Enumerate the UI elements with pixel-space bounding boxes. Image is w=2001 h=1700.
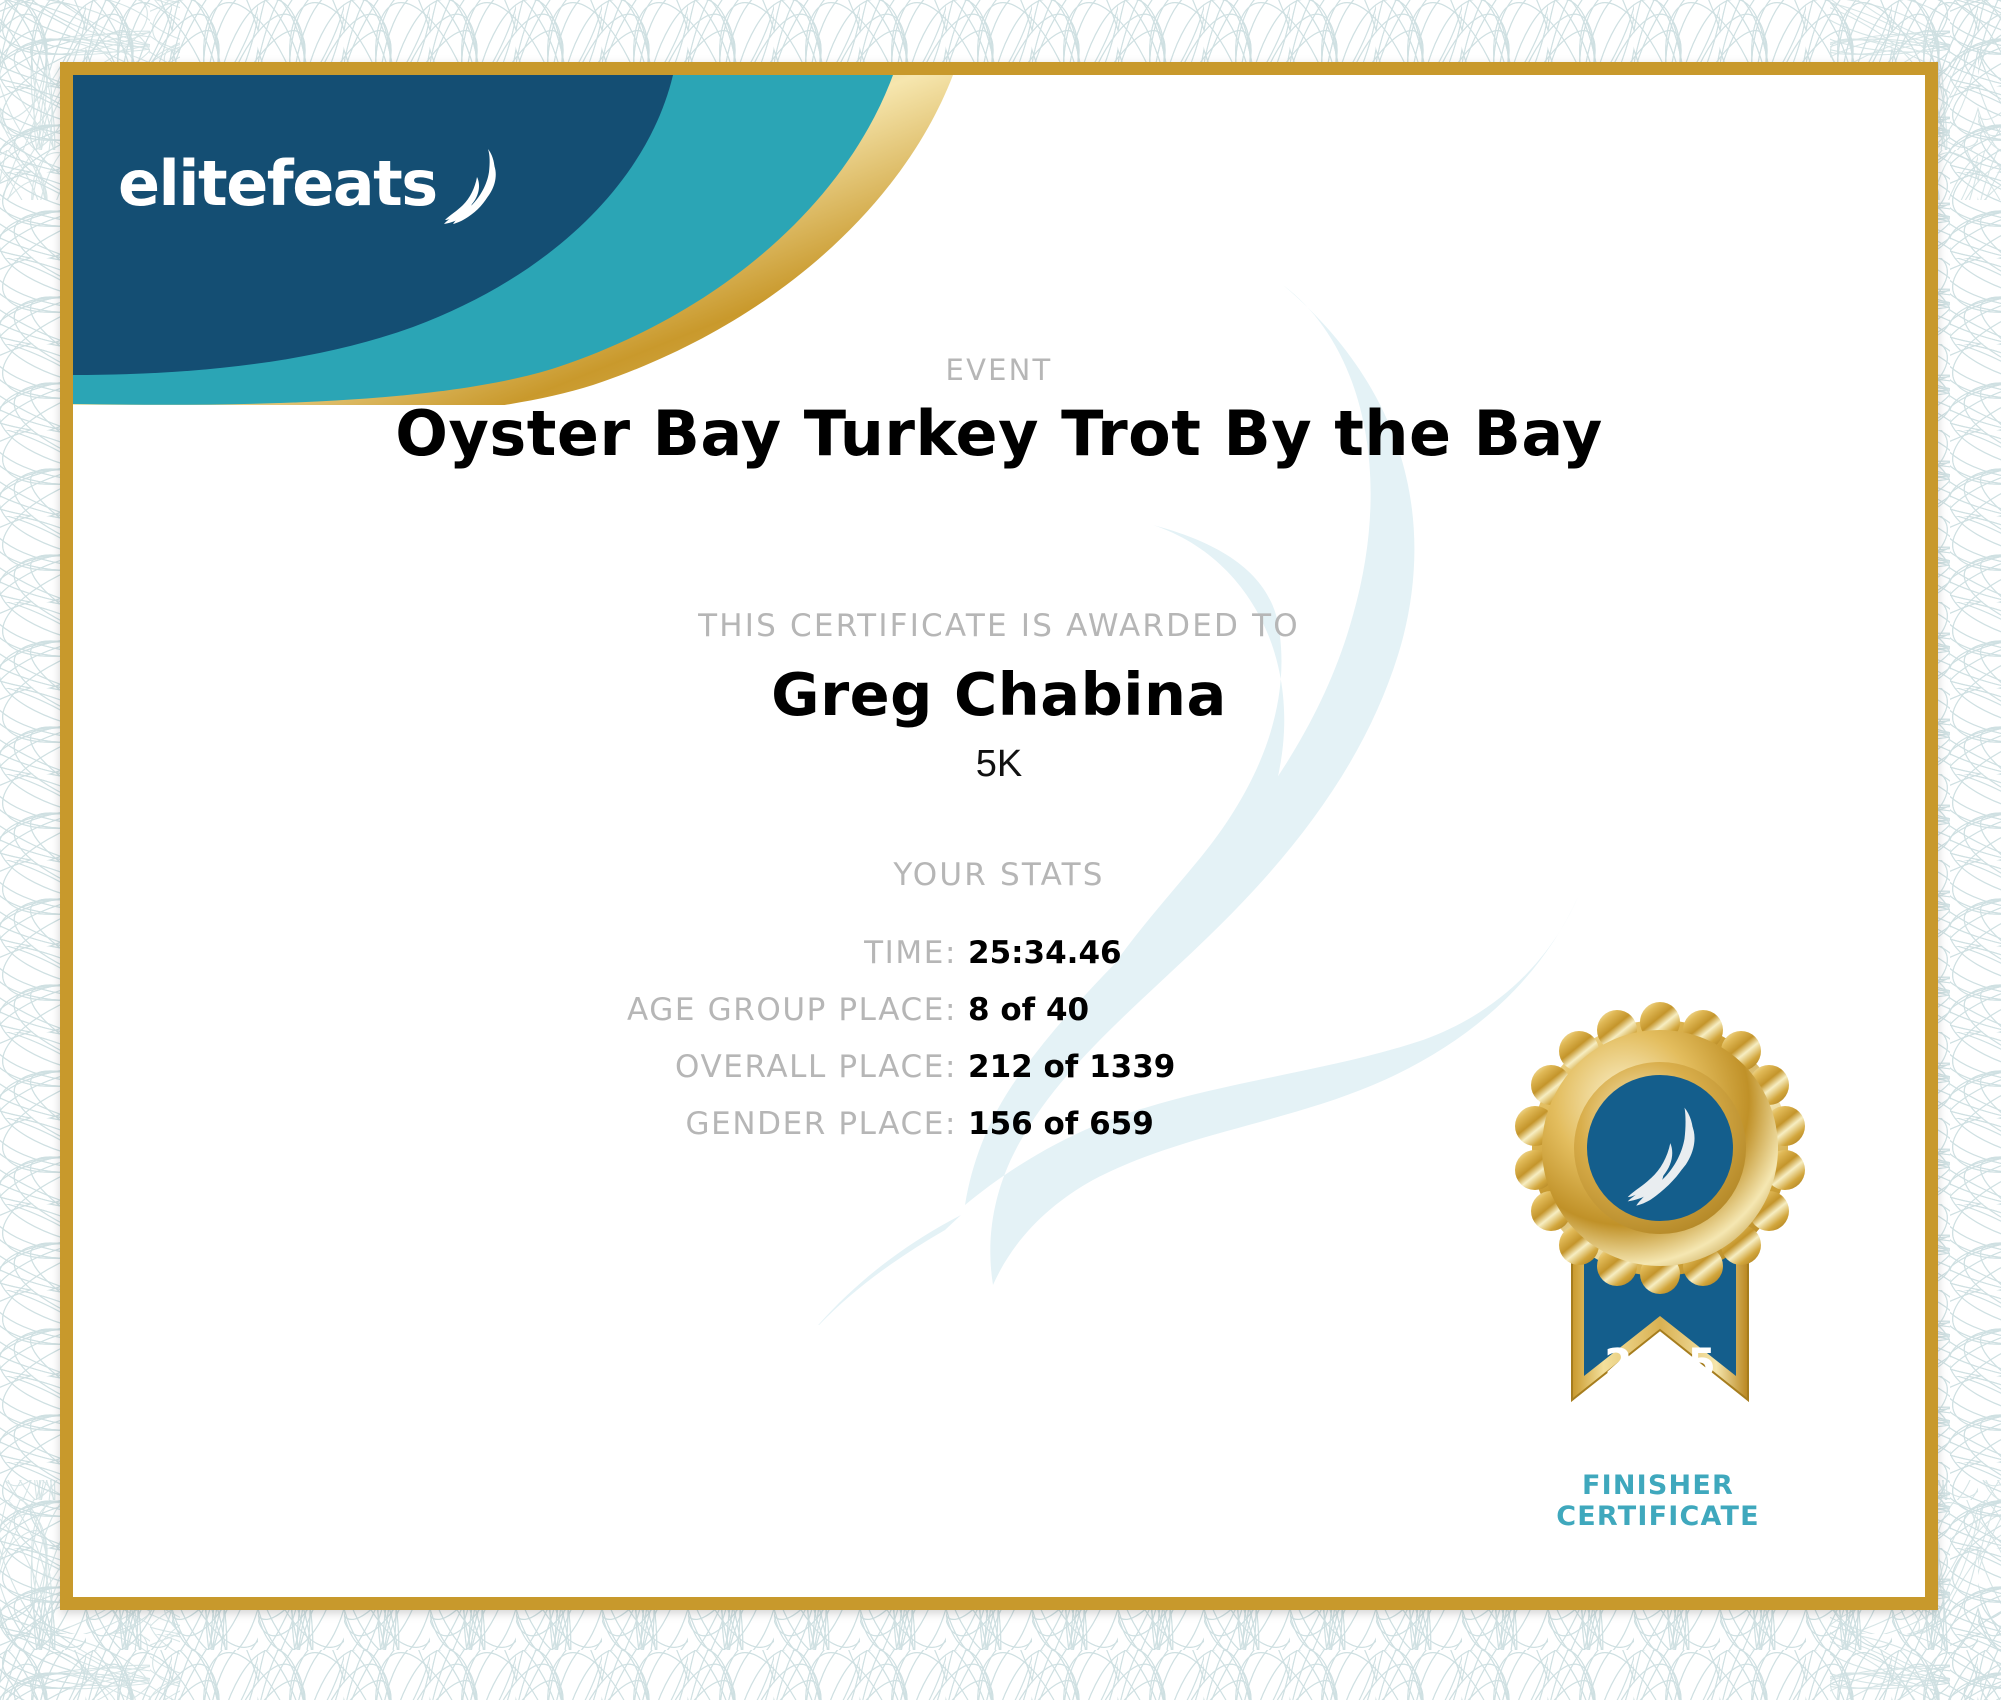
- stat-value: 8 of 40: [968, 992, 1178, 1028]
- logo-wordmark: elitefeats: [118, 153, 437, 215]
- caption-line-1: FINISHER: [1493, 1470, 1823, 1501]
- stat-row-gender-place: GENDER PLACE: 156 of 659: [358, 1106, 1178, 1163]
- certificate-frame: elitefeats EVENT Oyster Bay Turkey Trot …: [60, 62, 1938, 1610]
- finisher-medal-seal: 2025: [1510, 1000, 1810, 1480]
- your-stats-label: YOUR STATS: [73, 857, 1925, 893]
- medal-year: 2025: [1604, 1341, 1715, 1387]
- stat-value: 212 of 1339: [968, 1049, 1178, 1085]
- stat-row-age-group-place: AGE GROUP PLACE: 8 of 40: [358, 992, 1178, 1049]
- recipient-name: Greg Chabina: [73, 660, 1925, 729]
- caption-line-2: CERTIFICATE: [1493, 1501, 1823, 1532]
- event-title: Oyster Bay Turkey Trot By the Bay: [73, 397, 1925, 470]
- medal-ribbon-icon: 2025: [1510, 1000, 1810, 1480]
- stat-key: AGE GROUP PLACE:: [627, 992, 957, 1028]
- stat-key: TIME:: [864, 935, 957, 971]
- finisher-certificate-caption: FINISHER CERTIFICATE: [1493, 1470, 1823, 1533]
- awarded-to-label: THIS CERTIFICATE IS AWARDED TO: [73, 608, 1925, 644]
- stat-key: GENDER PLACE:: [686, 1106, 957, 1142]
- stats-table: TIME: 25:34.46 AGE GROUP PLACE: 8 of 40 …: [358, 935, 1178, 1163]
- stat-row-time: TIME: 25:34.46: [358, 935, 1178, 992]
- stat-value: 156 of 659: [968, 1106, 1178, 1142]
- winged-foot-icon: [441, 147, 503, 225]
- race-distance: 5K: [73, 743, 1925, 786]
- event-label: EVENT: [73, 353, 1925, 387]
- stat-row-overall-place: OVERALL PLACE: 212 of 1339: [358, 1049, 1178, 1106]
- stat-value: 25:34.46: [968, 935, 1178, 971]
- stat-key: OVERALL PLACE:: [675, 1049, 957, 1085]
- elitefeats-logo: elitefeats: [118, 143, 503, 225]
